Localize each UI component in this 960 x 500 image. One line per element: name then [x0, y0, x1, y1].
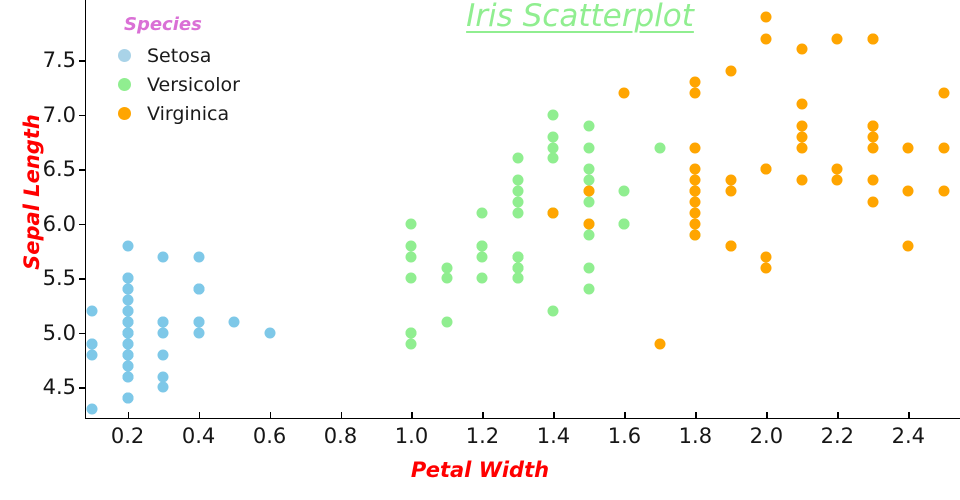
scatterplot-figure: Iris Scatterplot Species SetosaVersicolo…	[0, 0, 960, 500]
data-point-versicolor	[583, 218, 594, 229]
data-point-setosa	[122, 295, 133, 306]
data-point-versicolor	[548, 208, 559, 219]
data-point-versicolor	[512, 251, 523, 262]
data-point-setosa	[193, 284, 204, 295]
data-point-virginica	[938, 142, 949, 153]
data-point-virginica	[725, 186, 736, 197]
x-tick-mark	[837, 412, 838, 418]
data-point-versicolor	[548, 153, 559, 164]
data-point-virginica	[690, 208, 701, 219]
x-tick-label: 1.2	[466, 424, 499, 448]
x-tick-mark	[553, 412, 554, 418]
data-point-setosa	[158, 349, 169, 360]
y-tick-label: 6.0	[43, 212, 76, 236]
data-point-virginica	[761, 164, 772, 175]
y-tick-mark	[79, 60, 85, 61]
x-tick-label: 0.4	[182, 424, 215, 448]
data-point-versicolor	[583, 164, 594, 175]
legend-item-label: Versicolor	[147, 74, 240, 96]
data-point-setosa	[158, 327, 169, 338]
data-point-versicolor	[512, 251, 523, 262]
x-axis-line	[85, 418, 960, 419]
data-point-versicolor	[477, 273, 488, 284]
data-point-virginica	[867, 131, 878, 142]
x-tick-label: 1.0	[395, 424, 428, 448]
y-tick-label: 7.5	[43, 48, 76, 72]
data-point-setosa	[193, 317, 204, 328]
data-point-setosa	[193, 327, 204, 338]
data-point-setosa	[122, 371, 133, 382]
x-tick-label: 0.2	[111, 424, 144, 448]
data-point-setosa	[193, 284, 204, 295]
legend-title: Species	[124, 14, 308, 35]
legend-marker-icon	[118, 107, 131, 120]
data-point-virginica	[867, 120, 878, 131]
data-point-setosa	[158, 371, 169, 382]
data-point-setosa	[87, 306, 98, 317]
data-point-setosa	[122, 306, 133, 317]
data-point-setosa	[122, 317, 133, 328]
x-tick-label: 2.0	[750, 424, 783, 448]
x-tick-label: 2.2	[821, 424, 854, 448]
legend-item-versicolor[interactable]: Versicolor	[118, 70, 308, 99]
data-point-virginica	[796, 142, 807, 153]
data-point-virginica	[583, 186, 594, 197]
data-point-setosa	[193, 251, 204, 262]
data-point-virginica	[690, 164, 701, 175]
data-point-virginica	[938, 186, 949, 197]
data-point-versicolor	[548, 142, 559, 153]
data-point-virginica	[903, 240, 914, 251]
data-point-versicolor	[654, 142, 665, 153]
data-point-versicolor	[512, 197, 523, 208]
x-tick-mark	[766, 412, 767, 418]
data-point-versicolor	[406, 218, 417, 229]
data-point-setosa	[122, 273, 133, 284]
data-point-setosa	[122, 393, 133, 404]
x-tick-mark	[199, 412, 200, 418]
data-point-versicolor	[512, 251, 523, 262]
data-point-virginica	[867, 120, 878, 131]
data-point-versicolor	[406, 327, 417, 338]
data-point-setosa	[122, 360, 133, 371]
data-point-versicolor	[406, 240, 417, 251]
data-point-setosa	[122, 327, 133, 338]
data-point-virginica	[832, 33, 843, 44]
chart-title: Iris Scatterplot	[420, 0, 740, 34]
y-axis-line	[85, 0, 86, 418]
data-point-setosa	[87, 338, 98, 349]
data-point-virginica	[690, 186, 701, 197]
data-point-setosa	[87, 404, 98, 415]
data-point-setosa	[122, 317, 133, 328]
data-point-versicolor	[441, 273, 452, 284]
data-point-virginica	[796, 98, 807, 109]
data-point-versicolor	[583, 284, 594, 295]
data-point-setosa	[122, 349, 133, 360]
y-tick-label: 5.5	[43, 266, 76, 290]
legend-marker-icon	[118, 78, 131, 91]
data-point-virginica	[583, 218, 594, 229]
data-point-versicolor	[477, 208, 488, 219]
data-point-versicolor	[406, 273, 417, 284]
data-point-virginica	[867, 33, 878, 44]
data-point-versicolor	[441, 262, 452, 273]
data-point-versicolor	[406, 338, 417, 349]
data-point-setosa	[122, 284, 133, 295]
data-point-virginica	[761, 11, 772, 22]
x-tick-mark	[411, 412, 412, 418]
y-tick-label: 6.5	[43, 157, 76, 181]
x-tick-label: 0.6	[253, 424, 286, 448]
x-tick-mark	[270, 412, 271, 418]
data-point-setosa	[122, 240, 133, 251]
data-point-virginica	[938, 88, 949, 99]
data-point-setosa	[122, 393, 133, 404]
x-axis-title: Petal Width	[0, 458, 960, 482]
data-point-virginica	[725, 175, 736, 186]
data-point-versicolor	[441, 317, 452, 328]
data-point-setosa	[122, 349, 133, 360]
data-point-virginica	[690, 88, 701, 99]
legend-item-label: Setosa	[147, 45, 211, 67]
data-point-virginica	[761, 262, 772, 273]
data-point-setosa	[122, 306, 133, 317]
data-point-versicolor	[548, 109, 559, 120]
x-tick-mark	[341, 412, 342, 418]
data-point-virginica	[867, 142, 878, 153]
data-point-versicolor	[512, 273, 523, 284]
x-tick-mark	[624, 412, 625, 418]
data-point-setosa	[122, 338, 133, 349]
data-point-setosa	[122, 371, 133, 382]
legend-marker-icon	[118, 49, 131, 62]
data-point-setosa	[122, 327, 133, 338]
data-point-virginica	[690, 197, 701, 208]
x-tick-label: 1.4	[537, 424, 570, 448]
data-point-virginica	[690, 175, 701, 186]
data-point-virginica	[796, 44, 807, 55]
data-point-versicolor	[406, 327, 417, 338]
legend-item-virginica[interactable]: Virginica	[118, 99, 308, 128]
x-tick-mark	[128, 412, 129, 418]
x-tick-label: 0.8	[324, 424, 357, 448]
data-point-virginica	[796, 131, 807, 142]
legend-item-label: Virginica	[147, 103, 229, 125]
data-point-versicolor	[583, 197, 594, 208]
data-point-versicolor	[619, 218, 630, 229]
data-point-virginica	[654, 338, 665, 349]
data-point-versicolor	[512, 175, 523, 186]
data-point-versicolor	[512, 153, 523, 164]
data-point-versicolor	[619, 186, 630, 197]
data-point-virginica	[903, 142, 914, 153]
data-point-virginica	[796, 120, 807, 131]
data-point-setosa	[122, 327, 133, 338]
data-point-virginica	[725, 66, 736, 77]
data-point-versicolor	[690, 229, 701, 240]
data-point-versicolor	[512, 186, 523, 197]
data-point-virginica	[548, 208, 559, 219]
data-point-setosa	[122, 327, 133, 338]
data-point-virginica	[867, 33, 878, 44]
data-point-virginica	[832, 164, 843, 175]
data-point-setosa	[193, 317, 204, 328]
data-point-virginica	[690, 186, 701, 197]
data-point-virginica	[903, 186, 914, 197]
data-point-virginica	[690, 229, 701, 240]
y-tick-mark	[79, 169, 85, 170]
legend-items: SetosaVersicolorVirginica	[118, 41, 308, 128]
data-point-virginica	[867, 197, 878, 208]
data-point-virginica	[690, 142, 701, 153]
data-point-setosa	[122, 371, 133, 382]
y-tick-label: 5.0	[43, 321, 76, 345]
data-point-versicolor	[477, 251, 488, 262]
data-point-versicolor	[583, 175, 594, 186]
data-point-versicolor	[583, 186, 594, 197]
data-point-setosa	[122, 327, 133, 338]
data-point-virginica	[725, 240, 736, 251]
data-point-versicolor	[512, 262, 523, 273]
data-point-setosa	[229, 317, 240, 328]
x-tick-label: 1.6	[608, 424, 641, 448]
y-tick-mark	[79, 115, 85, 116]
y-tick-mark	[79, 333, 85, 334]
data-point-setosa	[122, 284, 133, 295]
data-point-versicolor	[512, 262, 523, 273]
data-point-versicolor	[583, 142, 594, 153]
data-point-versicolor	[583, 229, 594, 240]
data-point-virginica	[761, 33, 772, 44]
x-tick-mark	[482, 412, 483, 418]
data-point-virginica	[690, 77, 701, 88]
data-point-versicolor	[548, 306, 559, 317]
data-point-versicolor	[548, 208, 559, 219]
data-point-setosa	[158, 317, 169, 328]
data-point-versicolor	[619, 218, 630, 229]
data-point-virginica	[761, 164, 772, 175]
data-point-setosa	[122, 349, 133, 360]
y-axis-title: Sepal Length	[20, 102, 44, 282]
data-point-setosa	[87, 349, 98, 360]
data-point-setosa	[122, 273, 133, 284]
data-point-setosa	[122, 393, 133, 404]
data-point-setosa	[122, 360, 133, 371]
x-tick-label: 1.8	[679, 424, 712, 448]
data-point-setosa	[158, 317, 169, 328]
x-tick-mark	[695, 412, 696, 418]
data-point-setosa	[158, 251, 169, 262]
data-point-setosa	[87, 338, 98, 349]
data-point-versicolor	[583, 120, 594, 131]
y-tick-mark	[79, 278, 85, 279]
data-point-virginica	[725, 240, 736, 251]
legend: Species SetosaVersicolorVirginica	[118, 14, 308, 128]
data-point-setosa	[122, 338, 133, 349]
data-point-versicolor	[512, 262, 523, 273]
data-point-versicolor	[512, 273, 523, 284]
data-point-virginica	[690, 218, 701, 229]
data-point-virginica	[832, 175, 843, 186]
x-tick-mark	[908, 412, 909, 418]
data-point-versicolor	[583, 262, 594, 273]
data-point-setosa	[193, 284, 204, 295]
y-tick-mark	[79, 224, 85, 225]
data-point-setosa	[264, 327, 275, 338]
data-point-setosa	[158, 382, 169, 393]
data-point-virginica	[761, 251, 772, 262]
data-point-versicolor	[512, 208, 523, 219]
legend-item-setosa[interactable]: Setosa	[118, 41, 308, 70]
y-tick-label: 4.5	[43, 375, 76, 399]
data-point-setosa	[122, 317, 133, 328]
y-tick-mark	[79, 387, 85, 388]
data-point-virginica	[619, 88, 630, 99]
data-point-versicolor	[477, 240, 488, 251]
y-tick-label: 7.0	[43, 103, 76, 127]
data-point-virginica	[796, 175, 807, 186]
data-point-virginica	[867, 175, 878, 186]
data-point-versicolor	[477, 240, 488, 251]
data-point-versicolor	[548, 131, 559, 142]
x-tick-label: 2.4	[892, 424, 925, 448]
data-point-versicolor	[406, 251, 417, 262]
